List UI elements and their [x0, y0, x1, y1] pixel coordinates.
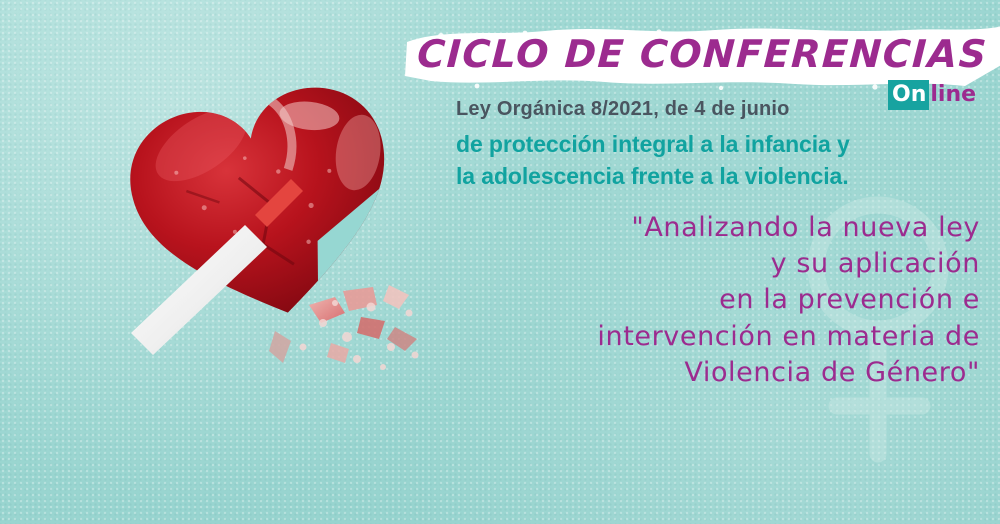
page-title: CICLO DE CONFERENCIAS: [429, 26, 977, 82]
law-line-1: Ley Orgánica 8/2021, de 4 de junio: [456, 98, 976, 121]
law-line-3: la adolescencia frente a la violencia.: [456, 161, 976, 193]
quote-line-2: y su aplicación: [470, 246, 980, 282]
law-reference-block: Ley Orgánica 8/2021, de 4 de junio de pr…: [456, 98, 976, 192]
law-line-2: de protección integral a la infancia y: [456, 129, 976, 161]
quote-line-5: Violencia de Género": [470, 355, 980, 391]
broken-heart-lollipop-image: [95, 55, 435, 395]
quote-line-1: "Analizando la nueva ley: [470, 210, 980, 246]
conference-poster: CICLO DE CONFERENCIAS On line Ley Orgáni…: [0, 0, 1000, 524]
conference-quote: "Analizando la nueva ley y su aplicación…: [470, 210, 980, 391]
quote-line-4: intervención en materia de: [470, 319, 980, 355]
quote-line-3: en la prevención e: [470, 282, 980, 318]
sponsor-logos-row: GOBIERNO DE ESPAÑA MINISTERIO DE LA PRES…: [0, 420, 1000, 524]
